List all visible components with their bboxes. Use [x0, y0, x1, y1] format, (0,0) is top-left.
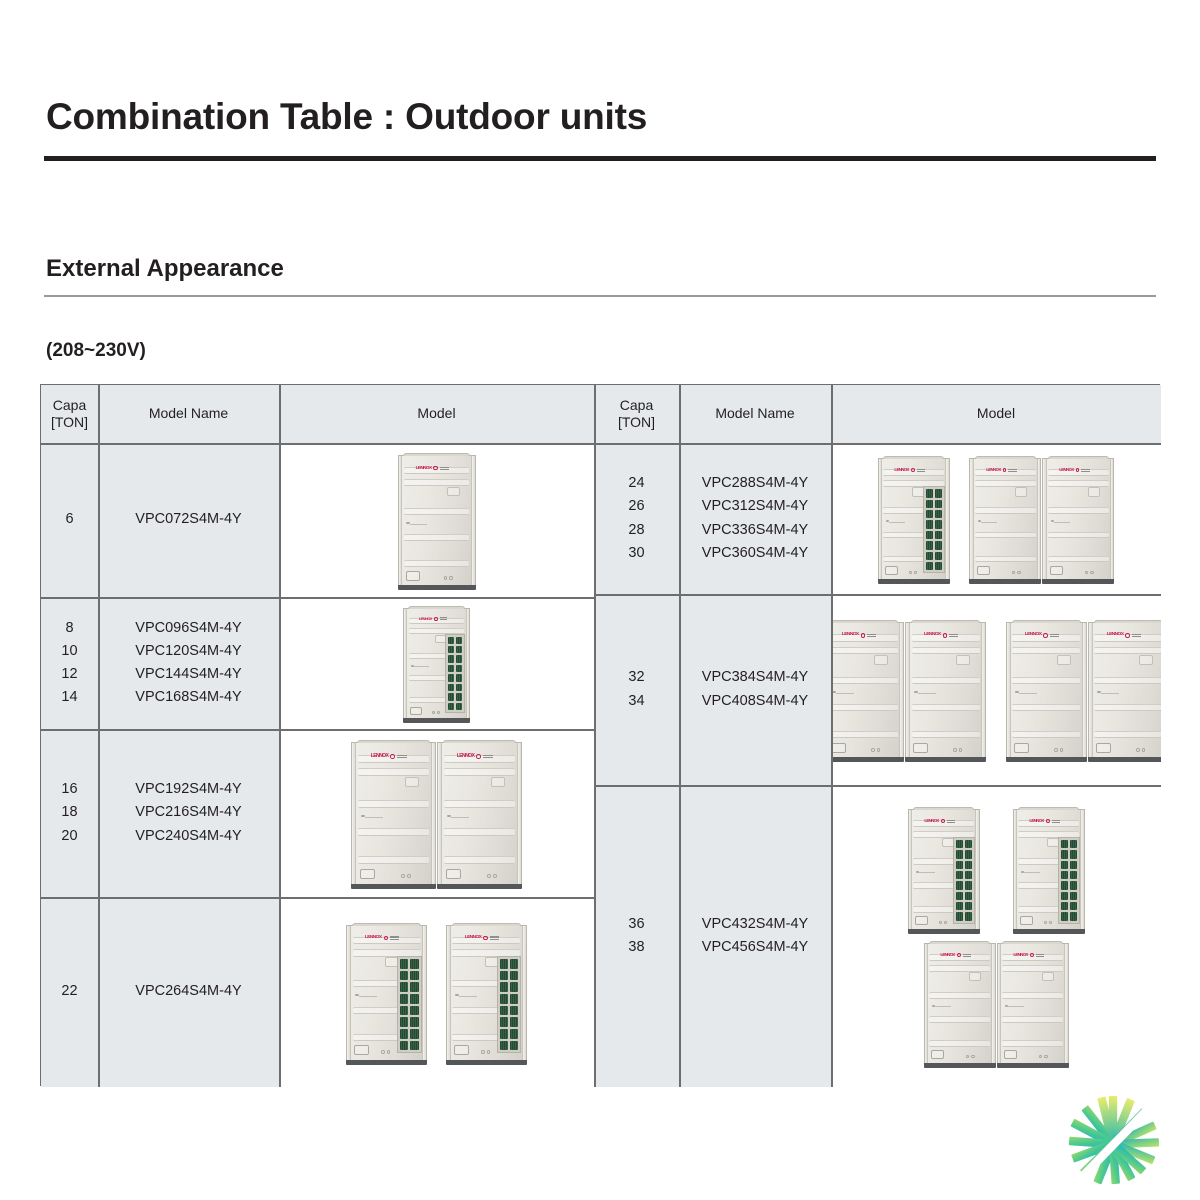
- unit-service-box: [1020, 916, 1033, 925]
- outdoor-unit-single: LENNOX: [878, 458, 950, 579]
- unit-side-rail-left: [1014, 810, 1018, 929]
- unit-panel-seam: [404, 534, 469, 541]
- capacity-cell-right: 3234: [594, 594, 679, 785]
- model-image-group: LENNOXLENNOXLENNOX: [831, 443, 1161, 594]
- lennox-ring-icon: [941, 819, 945, 823]
- column-header-capa-left-label: Capa: [53, 397, 86, 414]
- column-header-model-right-label: Model: [977, 405, 1015, 422]
- unit-service-box: [410, 707, 422, 715]
- unit-top-cap: [403, 453, 470, 456]
- unit-panel-seam: [831, 677, 898, 684]
- unit-service-box: [454, 1045, 469, 1055]
- lennox-logo-icon: LENNOX: [894, 468, 925, 472]
- unit-top-cap: [1012, 620, 1082, 623]
- unit-panel-seam: [1002, 965, 1062, 972]
- model-name-cell-right: VPC432S4M-4YVPC456S4M-4Y: [679, 785, 831, 1087]
- outdoor-unit-single: LENNOX: [398, 455, 476, 584]
- lennox-logo-icon: LENNOX: [371, 754, 407, 759]
- capacity-value-item: 28: [628, 523, 644, 538]
- column-header-model-name-left-label: Model Name: [149, 405, 228, 422]
- unit-side-rail-left: [1089, 623, 1093, 757]
- lennox-wordmark: LENNOX: [416, 466, 432, 471]
- column-header-model-left: Model: [279, 385, 594, 443]
- model-name-value-item: VPC408S4M-4Y: [702, 694, 808, 709]
- heat-exchanger-grille: [497, 956, 521, 1054]
- capacity-value: 8101214: [41, 621, 98, 706]
- lennox-ring-icon: [433, 466, 437, 470]
- table-row-divider: [594, 785, 1161, 787]
- unit-top-cap: [1018, 807, 1080, 810]
- unit-top-cap: [831, 620, 898, 623]
- table-row-divider: [41, 443, 1161, 445]
- model-name-cell-left: VPC264S4M-4Y: [98, 897, 279, 1087]
- unit-side-rail-left: [404, 609, 407, 719]
- lennox-wordmark: LENNOX: [1013, 953, 1027, 957]
- model-name-value-item: VPC264S4M-4Y: [135, 984, 241, 999]
- lennox-logo-icon: LENNOX: [986, 468, 1017, 472]
- capacity-value-item: 18: [61, 805, 77, 820]
- unit-sublabel: [397, 755, 407, 758]
- unit-panel-seam: [1012, 677, 1080, 684]
- unit-side-rail-right: [1082, 623, 1086, 757]
- model-name-value-item: VPC384S4M-4Y: [702, 670, 808, 685]
- unit-panel-seam: [358, 800, 429, 808]
- lennox-ring-icon: [1003, 468, 1007, 472]
- outdoor-unit-single: LENNOX: [446, 925, 527, 1060]
- model-image-row: LENNOXLENNOXLENNOXLENNOX: [831, 622, 1161, 757]
- capacity-value-item: 30: [628, 546, 644, 561]
- title-divider: [44, 156, 1156, 161]
- unit-service-box: [1050, 566, 1063, 575]
- unit-access-hatch: [874, 655, 888, 665]
- unit-sublabel: [1050, 634, 1059, 637]
- unit-sublabel: [963, 954, 971, 957]
- capacity-value-item: 36: [628, 917, 644, 932]
- capacity-value: 3638: [594, 917, 679, 955]
- lennox-wordmark: LENNOX: [457, 754, 475, 759]
- lennox-ring-icon: [483, 936, 487, 940]
- unit-side-rail-right: [981, 623, 985, 757]
- unit-top-cap: [443, 740, 516, 743]
- unit-panel-seam: [404, 479, 469, 486]
- lennox-ring-icon: [957, 953, 961, 957]
- unit-service-box: [977, 566, 990, 575]
- unit-sublabel: [1081, 469, 1089, 472]
- unit-panel-seam: [929, 1016, 989, 1023]
- unit-panel-seam: [358, 828, 429, 836]
- unit-pipe-ports: [909, 571, 917, 574]
- outdoor-unit-pair: LENNOXLENNOX: [924, 943, 1069, 1063]
- unit-sublabel: [867, 634, 876, 637]
- unit-access-hatch: [1042, 972, 1054, 981]
- outdoor-unit-illustration: LENNOX: [908, 809, 980, 929]
- unit-side-rail-right: [1080, 810, 1084, 929]
- model-image-cell-right: LENNOXLENNOXLENNOXLENNOX: [831, 785, 1161, 1087]
- unit-service-box: [1004, 1050, 1017, 1059]
- unit-panel-seam: [1048, 556, 1108, 563]
- unit-sublabel: [1036, 954, 1044, 957]
- unit-top-cap: [1002, 941, 1064, 944]
- lennox-ring-icon: [861, 633, 865, 637]
- unit-panel-seam: [1094, 731, 1161, 738]
- lennox-ring-icon: [1076, 468, 1080, 472]
- unit-access-hatch: [1139, 655, 1153, 665]
- outdoor-unit-pair: LENNOXLENNOX: [351, 742, 522, 883]
- outdoor-unit-single: LENNOX: [403, 608, 470, 719]
- unit-pipe-ports: [1039, 1055, 1047, 1058]
- unit-panel-seam: [912, 647, 980, 654]
- unit-service-box: [360, 869, 375, 880]
- unit-top-cap: [352, 923, 422, 926]
- outdoor-unit-illustration: LENNOX: [398, 455, 476, 584]
- unit-pipe-ports: [1085, 571, 1093, 574]
- lennox-logo-icon: LENNOX: [457, 754, 493, 759]
- outdoor-unit-illustration: LENNOX: [437, 742, 522, 883]
- unit-trim-line: [919, 872, 935, 873]
- model-image-group: LENNOXLENNOX: [279, 897, 594, 1087]
- unit-side-rail-right: [1037, 459, 1041, 579]
- model-name-value-item: VPC456S4M-4Y: [702, 940, 808, 955]
- outdoor-unit-illustration: LENNOX: [446, 925, 527, 1060]
- model-name-value: VPC072S4M-4Y: [98, 512, 279, 527]
- unit-panel-seam: [1002, 1016, 1062, 1023]
- outdoor-unit-illustration: LENNOX: [1013, 809, 1085, 929]
- unit-service-box: [831, 743, 846, 753]
- model-name-value-item: VPC144S4M-4Y: [135, 667, 241, 682]
- lennox-logo-icon: LENNOX: [1107, 633, 1141, 638]
- sunburst-icon: [1058, 1092, 1168, 1194]
- capacity-value-item: 24: [628, 476, 644, 491]
- unit-top-cap: [1048, 456, 1110, 459]
- unit-side-rail-right: [471, 456, 475, 584]
- model-name-cell-left: VPC072S4M-4Y: [98, 443, 279, 597]
- lennox-wordmark: LENNOX: [924, 819, 938, 823]
- model-image-row: LENNOXLENNOXLENNOX: [878, 458, 1115, 579]
- unit-trim-line: [981, 522, 997, 523]
- capacity-cell-right: 24262830: [594, 443, 679, 594]
- unit-side-rail-right: [899, 623, 903, 757]
- table-grid: Capa[TON]Model NameModelCapa[TON]Model N…: [41, 385, 1159, 1085]
- unit-pipe-ports: [939, 921, 947, 924]
- unit-sublabel: [483, 755, 493, 758]
- unit-service-box: [885, 566, 898, 575]
- unit-trim-line: [410, 524, 427, 525]
- lennox-wordmark: LENNOX: [894, 468, 908, 472]
- unit-panel-seam: [912, 677, 980, 684]
- unit-pipe-ports: [953, 748, 962, 752]
- unit-top-cap: [883, 456, 945, 459]
- lennox-ring-icon: [1043, 633, 1047, 637]
- unit-panel-seam: [1094, 704, 1161, 711]
- unit-side-rail-right: [431, 743, 435, 883]
- column-header-capa-left: Capa[TON]: [41, 385, 98, 443]
- column-header-model-name-left: Model Name: [98, 385, 279, 443]
- unit-side-rail-right: [522, 926, 526, 1060]
- unit-sublabel: [390, 936, 399, 939]
- unit-panel-seam: [1012, 704, 1080, 711]
- page-title: Combination Table : Outdoor units: [46, 96, 647, 138]
- capacity-value-item: 26: [628, 499, 644, 514]
- unit-sublabel: [440, 617, 448, 620]
- unit-side-rail-right: [945, 459, 949, 579]
- unit-panel-seam: [1094, 647, 1161, 654]
- capacity-value: 161820: [41, 782, 98, 844]
- page-root: Combination Table : Outdoor units Extern…: [0, 0, 1200, 1200]
- unit-side-rail-left: [906, 623, 910, 757]
- unit-panel-seam: [975, 532, 1035, 539]
- model-image-stack: LENNOXLENNOXLENNOXLENNOX: [908, 809, 1085, 1063]
- outdoor-unit-illustration: LENNOX: [1042, 458, 1114, 579]
- unit-side-rail-left: [347, 926, 351, 1060]
- unit-panel-seam: [912, 704, 980, 711]
- unit-panel-seam: [444, 768, 515, 776]
- lennox-logo-icon: LENNOX: [924, 819, 955, 823]
- model-image-cell-left: LENNOX: [279, 597, 594, 729]
- model-image-row: LENNOXLENNOX: [924, 943, 1069, 1063]
- unit-trim-line: [1024, 872, 1040, 873]
- model-name-value: VPC264S4M-4Y: [98, 984, 279, 999]
- unit-side-rail-left: [909, 810, 913, 929]
- unit-side-rail-left: [1043, 459, 1047, 579]
- section-divider: [44, 295, 1156, 297]
- unit-service-box: [406, 571, 420, 581]
- table-row-divider: [594, 594, 1161, 596]
- unit-pipe-ports: [1044, 921, 1052, 924]
- unit-trim-line: [1008, 1006, 1024, 1007]
- lennox-wordmark: LENNOX: [842, 633, 859, 638]
- unit-pipe-ports: [966, 1055, 974, 1058]
- model-name-value: VPC192S4M-4YVPC216S4M-4YVPC240S4M-4Y: [98, 782, 279, 844]
- unit-panel-seam: [912, 731, 980, 738]
- table-column-divider: [831, 385, 833, 1087]
- column-header-model-left-label: Model: [417, 405, 455, 422]
- lennox-logo-icon: LENNOX: [940, 953, 971, 957]
- combination-table: Capa[TON]Model NameModelCapa[TON]Model N…: [40, 384, 1160, 1086]
- capacity-value-item: 34: [628, 694, 644, 709]
- unit-panel-seam: [831, 647, 898, 654]
- outdoor-unit-illustration: LENNOX: [924, 943, 996, 1063]
- capacity-value: 22: [41, 984, 98, 999]
- unit-sublabel: [1132, 634, 1141, 637]
- outdoor-unit-single: LENNOX: [346, 925, 427, 1060]
- unit-side-rail-right: [517, 743, 521, 883]
- unit-access-hatch: [1057, 655, 1071, 665]
- table-row-divider: [41, 897, 594, 899]
- model-image-cell-left: LENNOX: [279, 443, 594, 597]
- heat-exchanger-grille: [445, 634, 465, 714]
- model-name-value: VPC288S4M-4YVPC312S4M-4YVPC336S4M-4YVPC3…: [679, 476, 831, 561]
- unit-sublabel: [490, 936, 499, 939]
- unit-panel-seam: [929, 992, 989, 999]
- lennox-ring-icon: [390, 754, 395, 759]
- unit-side-rail-left: [925, 944, 929, 1063]
- column-header-capa-right-label-2: [TON]: [618, 414, 655, 431]
- lennox-ring-icon: [476, 754, 481, 759]
- outdoor-unit-illustration: LENNOX: [997, 943, 1069, 1063]
- unit-top-cap: [913, 807, 975, 810]
- unit-sublabel: [949, 634, 958, 637]
- column-header-capa-left-label-2: [TON]: [51, 414, 88, 431]
- unit-side-rail-right: [975, 810, 979, 929]
- unit-service-box: [446, 869, 461, 880]
- model-name-value-item: VPC216S4M-4Y: [135, 805, 241, 820]
- unit-pipe-ports: [401, 874, 411, 878]
- unit-panel-seam: [444, 828, 515, 836]
- lennox-logo-icon: LENNOX: [1025, 633, 1059, 638]
- lennox-wordmark: LENNOX: [1029, 819, 1043, 823]
- outdoor-unit-illustration: LENNOX: [969, 458, 1041, 579]
- unit-panel-seam: [404, 560, 469, 567]
- unit-pipe-ports: [481, 1050, 490, 1054]
- unit-panel-seam: [1048, 507, 1108, 514]
- outdoor-unit-illustration: LENNOX: [403, 608, 470, 719]
- unit-panel-seam: [1012, 731, 1080, 738]
- unit-access-hatch: [1088, 487, 1100, 496]
- lennox-wordmark: LENNOX: [371, 754, 389, 759]
- unit-sublabel: [917, 469, 925, 472]
- model-image-row: LENNOXLENNOX: [908, 809, 1085, 929]
- unit-trim-line: [365, 817, 384, 818]
- unit-trim-line: [451, 817, 470, 818]
- unit-pipe-ports: [432, 711, 440, 714]
- column-header-capa-right-label: Capa: [620, 397, 653, 414]
- unit-sublabel: [1052, 820, 1060, 823]
- unit-top-cap: [1094, 620, 1161, 623]
- unit-sublabel: [440, 467, 449, 470]
- unit-service-box: [1014, 743, 1029, 753]
- unit-panel-seam: [1048, 480, 1108, 487]
- lennox-wordmark: LENNOX: [1107, 633, 1124, 638]
- capacity-value: 3234: [594, 670, 679, 708]
- capacity-value-item: 6: [65, 512, 73, 527]
- unit-top-cap: [929, 941, 991, 944]
- lennox-logo-icon: LENNOX: [365, 936, 399, 941]
- model-name-value-item: VPC312S4M-4Y: [702, 499, 808, 514]
- unit-panel-seam: [1048, 532, 1108, 539]
- unit-trim-line: [918, 693, 936, 694]
- outdoor-unit-illustration: LENNOX: [1006, 622, 1087, 757]
- model-image-cell-right: LENNOXLENNOXLENNOXLENNOX: [831, 594, 1161, 785]
- model-name-value-item: VPC432S4M-4Y: [702, 917, 808, 932]
- outdoor-unit-illustration: LENNOX: [831, 622, 904, 757]
- model-name-cell-left: VPC192S4M-4YVPC216S4M-4YVPC240S4M-4Y: [98, 729, 279, 897]
- model-name-cell-right: VPC288S4M-4YVPC312S4M-4YVPC336S4M-4YVPC3…: [679, 443, 831, 594]
- unit-trim-line: [1054, 522, 1070, 523]
- outdoor-unit-illustration: LENNOX: [1088, 622, 1161, 757]
- column-header-model-name-right-label: Model Name: [715, 405, 794, 422]
- model-image-group: LENNOXLENNOX: [279, 729, 594, 897]
- unit-pipe-ports: [444, 576, 453, 580]
- capacity-cell-right: 3638: [594, 785, 679, 1087]
- lennox-logo-icon: LENNOX: [924, 633, 958, 638]
- unit-pipe-ports: [487, 874, 497, 878]
- model-image-row: LENNOXLENNOX: [346, 925, 527, 1060]
- lennox-ring-icon: [1030, 953, 1034, 957]
- unit-access-hatch: [447, 487, 460, 497]
- model-image-group: LENNOXLENNOXLENNOXLENNOX: [831, 785, 1161, 1087]
- model-image-cell-left: LENNOXLENNOX: [279, 729, 594, 897]
- unit-panel-seam: [975, 556, 1035, 563]
- lennox-ring-icon: [1125, 633, 1129, 637]
- unit-sublabel: [1008, 469, 1016, 472]
- unit-pipe-ports: [1054, 748, 1063, 752]
- column-header-model-right: Model: [831, 385, 1161, 443]
- capacity-value-item: 8: [65, 621, 73, 636]
- unit-panel-seam: [975, 507, 1035, 514]
- lennox-logo-icon: LENNOX: [419, 617, 448, 621]
- unit-side-rail-right: [1064, 944, 1068, 1063]
- unit-service-box: [354, 1045, 369, 1055]
- lennox-ring-icon: [943, 633, 947, 637]
- unit-panel-seam: [929, 965, 989, 972]
- unit-panel-seam: [358, 768, 429, 776]
- unit-access-hatch: [956, 655, 970, 665]
- unit-side-rail-left: [399, 456, 403, 584]
- unit-side-rail-left: [352, 743, 356, 883]
- model-name-value-item: VPC288S4M-4Y: [702, 476, 808, 491]
- unit-panel-seam: [1012, 647, 1080, 654]
- unit-side-rail-right: [466, 609, 469, 719]
- lennox-logo-icon: LENNOX: [416, 466, 449, 471]
- unit-pipe-ports: [1012, 571, 1020, 574]
- model-name-cell-right: VPC384S4M-4YVPC408S4M-4Y: [679, 594, 831, 785]
- capacity-cell-left: 8101214: [41, 597, 98, 729]
- model-image-group: LENNOXLENNOXLENNOXLENNOX: [831, 594, 1161, 785]
- unit-trim-line: [935, 1006, 951, 1007]
- model-name-value-item: VPC336S4M-4Y: [702, 523, 808, 538]
- unit-trim-line: [836, 693, 854, 694]
- model-image-cell-left: LENNOXLENNOX: [279, 897, 594, 1087]
- unit-trim-line: [414, 666, 429, 667]
- capacity-cell-left: 6: [41, 443, 98, 597]
- heat-exchanger-grille: [923, 486, 945, 573]
- unit-side-rail-left: [879, 459, 883, 579]
- unit-side-rail-right: [991, 944, 995, 1063]
- outdoor-unit-illustration: LENNOX: [905, 622, 986, 757]
- unit-trim-line: [1019, 693, 1037, 694]
- unit-top-cap: [357, 740, 430, 743]
- capacity-value-item: 16: [61, 782, 77, 797]
- model-name-value-item: VPC192S4M-4Y: [135, 782, 241, 797]
- heat-exchanger-grille: [397, 956, 421, 1054]
- unit-top-cap: [975, 456, 1037, 459]
- unit-trim-line: [1101, 693, 1119, 694]
- column-header-capa-right: Capa[TON]: [594, 385, 679, 443]
- unit-side-rail-left: [1007, 623, 1011, 757]
- capacity-value-item: 10: [61, 644, 77, 659]
- unit-panel-seam: [444, 856, 515, 864]
- unit-service-box: [1096, 743, 1111, 753]
- heat-exchanger-grille: [953, 837, 975, 924]
- lennox-wordmark: LENNOX: [986, 468, 1000, 472]
- lennox-wordmark: LENNOX: [1025, 633, 1042, 638]
- unit-panel-seam: [1094, 677, 1161, 684]
- lennox-wordmark: LENNOX: [365, 936, 382, 941]
- capacity-value-item: 38: [628, 940, 644, 955]
- unit-trim-line: [459, 996, 477, 997]
- unit-top-cap: [452, 923, 522, 926]
- column-header-model-name-right: Model Name: [679, 385, 831, 443]
- unit-pipe-ports: [381, 1050, 390, 1054]
- outdoor-unit-illustration: LENNOX: [878, 458, 950, 579]
- unit-side-rail-left: [998, 944, 1002, 1063]
- unit-panel-seam: [975, 480, 1035, 487]
- lennox-logo-icon: LENNOX: [842, 633, 876, 638]
- capacity-cell-left: 22: [41, 897, 98, 1087]
- capacity-value-item: 14: [61, 690, 77, 705]
- lennox-logo-icon: LENNOX: [1029, 819, 1060, 823]
- unit-panel-seam: [444, 800, 515, 808]
